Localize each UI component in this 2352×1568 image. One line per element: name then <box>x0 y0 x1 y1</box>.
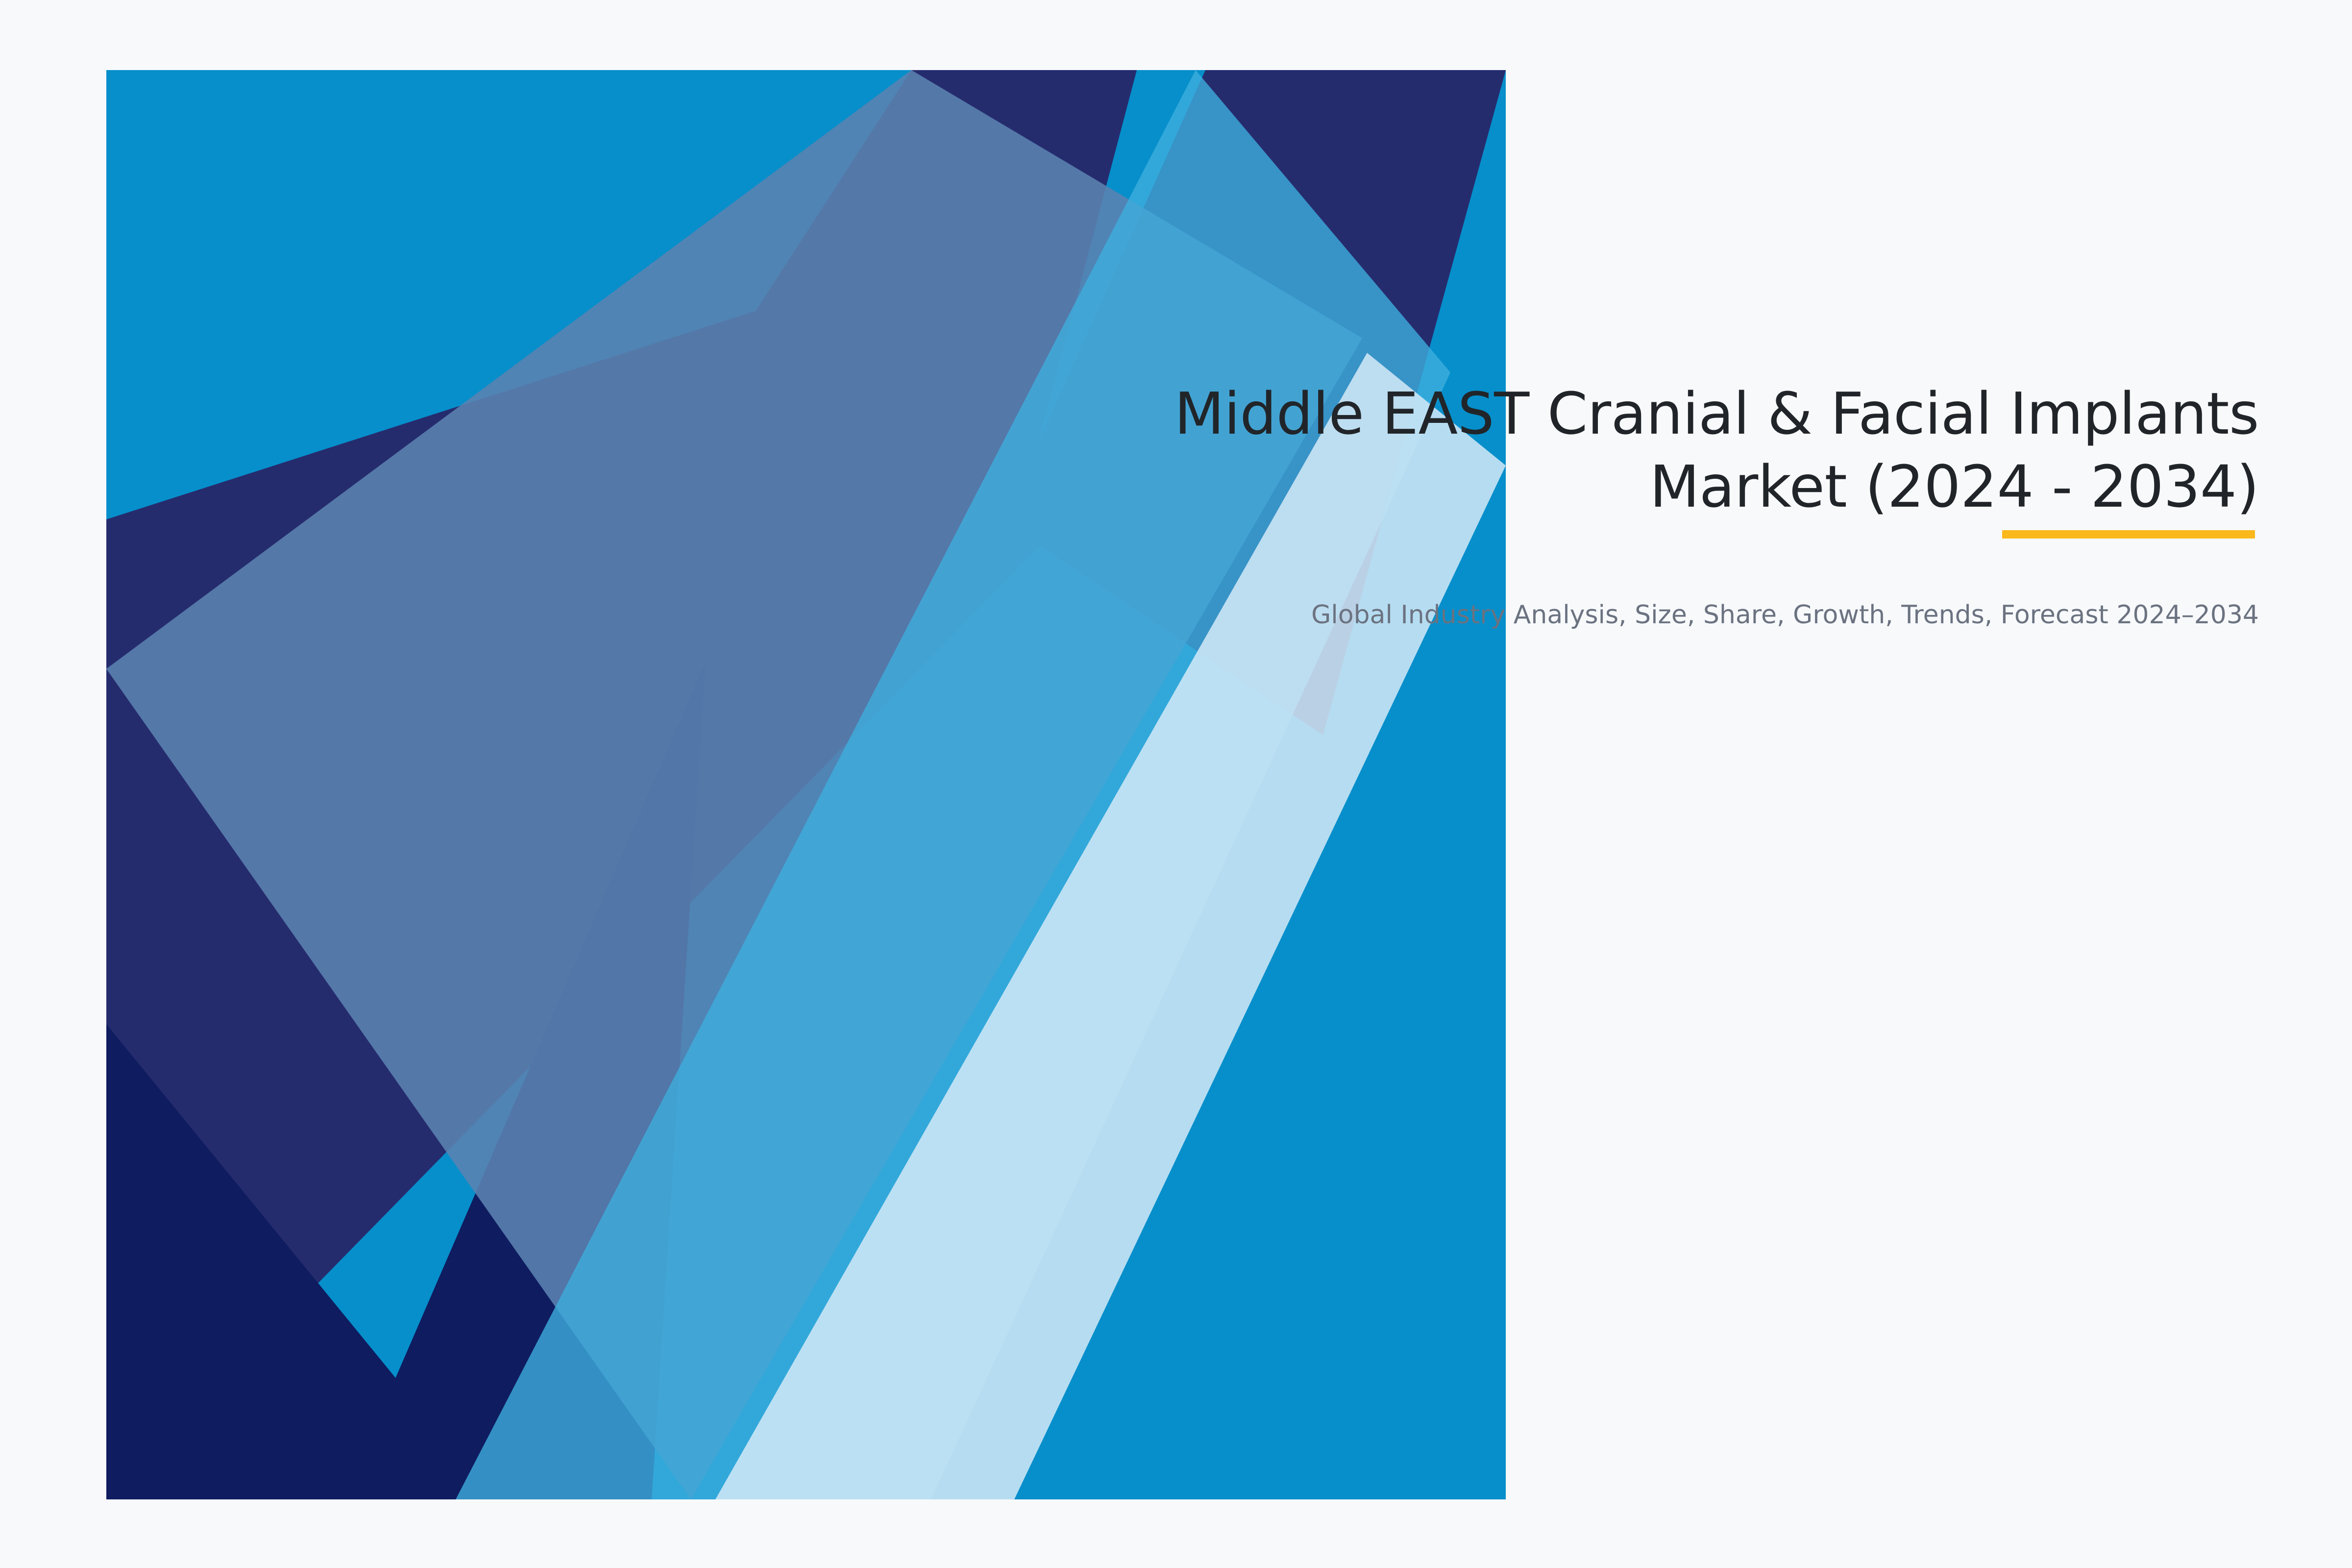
abstract-geometric-banner <box>0 0 2352 1568</box>
cover-text-block: Middle EAST Cranial & Facial Implants Ma… <box>1107 377 2259 634</box>
title-wrap: Middle EAST Cranial & Facial Implants Ma… <box>1107 377 2259 523</box>
page-subtitle: Global Industry Analysis, Size, Share, G… <box>1107 523 2259 634</box>
page-title: Middle EAST Cranial & Facial Implants Ma… <box>1107 377 2259 523</box>
report-cover: Middle EAST Cranial & Facial Implants Ma… <box>0 0 2352 1568</box>
